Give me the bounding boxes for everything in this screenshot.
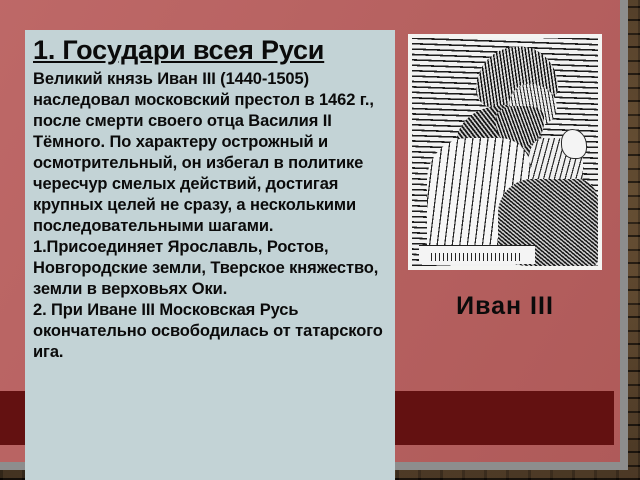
portrait-frame — [408, 34, 602, 270]
portrait-hand-shape — [561, 129, 587, 158]
page-title: 1. Государи всея Руси — [33, 36, 387, 65]
presentation-slide: 1. Государи всея Руси Великий князь Иван… — [0, 0, 640, 480]
body-text: Великий князь Иван III (1440-1505) насле… — [33, 69, 387, 363]
woodcut-portrait-icon — [412, 38, 598, 266]
portrait-base-inscription — [431, 253, 520, 261]
portrait-caption: Иван III — [408, 292, 602, 321]
content-text-panel: 1. Государи всея Руси Великий князь Иван… — [25, 30, 395, 480]
